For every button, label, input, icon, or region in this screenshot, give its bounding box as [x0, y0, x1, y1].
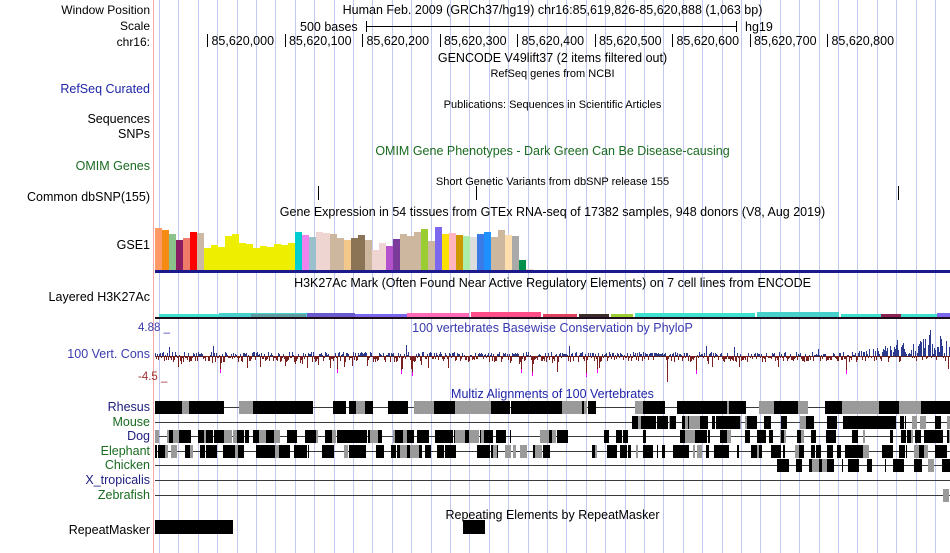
conservation-bar-negative	[714, 356, 715, 358]
multiz-alignment-block	[505, 445, 511, 458]
multiz-alignment-block	[491, 430, 493, 443]
conservation-bar-negative	[183, 356, 184, 362]
dbsnp-variant[interactable]	[476, 186, 477, 200]
conservation-bar-negative	[428, 356, 429, 368]
h3k27ac-cell-line-signal	[251, 314, 306, 317]
conservation-bar-negative	[889, 356, 890, 358]
gtex-tissue-bar[interactable]	[400, 234, 407, 270]
conservation-bar-negative	[771, 356, 772, 359]
multiz-alignment-block	[291, 430, 297, 443]
multiz-alignment-block	[224, 430, 232, 443]
multiz-alignment-block	[483, 445, 491, 458]
conservation-bar-negative	[403, 356, 404, 358]
conservation-bar-negative	[187, 356, 188, 360]
gtex-tissue-bar[interactable]	[267, 247, 274, 270]
scale-bases-text: 500 bases	[300, 20, 358, 34]
multiz-alignment-block	[411, 430, 414, 443]
multiz-alignment-block	[189, 401, 209, 414]
conservation-bar-negative	[288, 356, 289, 360]
bottom-tick	[605, 540, 606, 553]
gtex-tissue-bar[interactable]	[372, 250, 379, 270]
gtex-tissue-bar[interactable]	[281, 245, 288, 270]
track-label-omim-genes[interactable]: OMIM Genes	[0, 159, 150, 173]
conservation-bar-negative	[851, 356, 852, 360]
multiz-alignment-block	[328, 445, 334, 458]
multiz-alignment-block	[239, 401, 253, 414]
gtex-tissue-bar[interactable]	[337, 238, 344, 270]
gtex-tissue-bar[interactable]	[323, 233, 330, 270]
multiz-alignment-block	[685, 430, 692, 443]
conservation-bar-negative	[808, 356, 809, 361]
gtex-tissue-bar[interactable]	[498, 230, 505, 270]
gtex-tissue-bar[interactable]	[190, 232, 197, 270]
conservation-bar-negative	[502, 356, 503, 359]
gtex-tissue-bar[interactable]	[435, 227, 442, 270]
conservation-bar-negative	[232, 356, 233, 359]
h3k27ac-cell-line-signal	[307, 313, 355, 317]
multiz-alignment-block	[253, 401, 273, 414]
conservation-bar-negative	[537, 356, 538, 360]
bottom-tick	[838, 540, 839, 553]
center-title-sequences: Publications: Sequences in Scientific Ar…	[155, 99, 950, 111]
conservation-bar-negative	[733, 356, 734, 361]
conservation-bar-negative	[307, 356, 308, 368]
conservation-bar-negative	[174, 356, 175, 360]
bottom-tick	[857, 540, 858, 553]
gtex-tissue-bar[interactable]	[512, 236, 519, 270]
conservation-bar-negative	[158, 356, 159, 360]
multiz-alignment-block	[190, 445, 193, 458]
multiz-alignment-block	[395, 430, 403, 443]
scale-label: Scale	[0, 20, 150, 33]
conservation-bar-negative	[242, 356, 243, 362]
gtex-tissue-bar[interactable]	[491, 237, 498, 270]
multiz-species-label-chicken[interactable]: Chicken	[0, 458, 150, 472]
conservation-bar-negative	[212, 356, 213, 363]
multiz-alignment-block	[242, 445, 243, 458]
multiz-alignment-block	[588, 401, 596, 414]
multiz-alignment-block	[863, 445, 869, 458]
multiz-alignment-block	[708, 430, 711, 443]
conservation-bar-negative	[931, 356, 932, 358]
multiz-alignment-block	[864, 401, 879, 414]
multiz-alignment-block	[706, 445, 709, 458]
conservation-bar-positive	[942, 346, 943, 356]
conservation-bar-negative	[603, 356, 604, 358]
multiz-alignment-block	[648, 445, 653, 458]
conservation-bar-negative	[448, 356, 449, 368]
gtex-tissue-bar[interactable]	[456, 235, 463, 270]
conservation-bar-negative	[161, 356, 162, 358]
conservation-bar-negative	[907, 356, 908, 357]
conservation-bar-negative	[750, 356, 751, 358]
dbsnp-variant[interactable]	[318, 186, 319, 200]
dbsnp-variant[interactable]	[898, 186, 899, 200]
gtex-tissue-bar[interactable]	[505, 235, 512, 270]
gtex-tissue-bar[interactable]	[344, 240, 351, 270]
gtex-tissue-bar[interactable]	[351, 238, 358, 270]
multiz-alignment-block	[700, 445, 702, 458]
multiz-alignment-block	[941, 445, 948, 458]
track-label-layered-h3k27ac[interactable]: Layered H3K27Ac	[0, 290, 150, 304]
multiz-alignment-block	[696, 401, 711, 414]
phylop-conservation-track[interactable]	[155, 330, 950, 382]
conservation-bar-negative	[178, 356, 179, 367]
scale-bar	[366, 26, 737, 27]
multiz-alignment-block	[689, 401, 696, 414]
conservation-bar-negative	[522, 356, 523, 359]
multiz-alignment-block	[228, 445, 235, 458]
multiz-alignment-block	[484, 430, 491, 443]
center-title-gencode: GENCODE V49lift37 (2 items filtered out)	[155, 52, 950, 64]
conservation-bar-clipped	[412, 372, 413, 376]
conservation-bar-negative	[874, 356, 875, 361]
multiz-species-row[interactable]	[155, 416, 950, 429]
h3k27ac-cell-line-signal	[757, 312, 839, 317]
multiz-alignment-block	[612, 445, 617, 458]
gtex-tissue-bar[interactable]	[449, 233, 456, 270]
bottom-tick	[275, 540, 276, 553]
multiz-species-row[interactable]	[155, 489, 950, 502]
multiz-alignment-block	[262, 445, 270, 458]
multiz-alignment-block	[879, 401, 899, 414]
gtex-tissue-bar[interactable]	[162, 230, 169, 270]
gtex-tissue-bar[interactable]	[197, 233, 204, 270]
gtex-tissue-bar[interactable]	[463, 236, 470, 270]
multiz-species-label-x_tropicalis[interactable]: X_tropicalis	[0, 473, 150, 487]
bottom-tick	[237, 540, 238, 553]
conservation-bar-negative	[435, 356, 436, 359]
ruler-tick-label: 85,620,500	[596, 34, 662, 48]
gtex-tissue-bar[interactable]	[477, 234, 484, 270]
conservation-bar-negative	[417, 356, 418, 358]
conservation-bar-negative	[574, 356, 575, 357]
gtex-tissue-bar[interactable]	[295, 232, 302, 270]
multiz-species-label-zebrafish[interactable]: Zebrafish	[0, 488, 150, 502]
multiz-alignment-block	[920, 430, 921, 443]
multiz-alignment-block	[830, 430, 836, 443]
conservation-bar-negative	[529, 356, 530, 357]
conservation-bar-negative	[696, 356, 697, 371]
gtex-tissue-bar[interactable]	[218, 247, 225, 270]
bottom-tick	[916, 540, 917, 553]
conservation-bar-negative	[337, 356, 338, 370]
multiz-alignment-block	[604, 430, 609, 443]
gtex-tissue-bar[interactable]	[470, 237, 477, 270]
multiz-alignment-block	[285, 445, 290, 458]
multiz-alignment-block	[818, 445, 821, 458]
conservation-bar-negative	[881, 356, 882, 361]
multiz-alignment-block	[635, 401, 644, 414]
gtex-tissue-bar[interactable]	[316, 232, 323, 270]
multiz-alignment-block	[825, 401, 843, 414]
multiz-species-label-elephant[interactable]: Elephant	[0, 444, 150, 458]
conservation-bar-negative	[703, 356, 704, 358]
multiz-alignment-block	[693, 445, 695, 458]
gtex-expression-chart[interactable]	[155, 221, 950, 273]
conservation-bar-negative	[483, 356, 484, 359]
bottom-tick	[760, 540, 761, 553]
h3k27ac-cell-line-signal	[579, 314, 609, 317]
bottom-tick	[198, 540, 199, 553]
conservation-bar-clipped	[846, 370, 847, 374]
bottom-tick	[935, 540, 936, 553]
multiz-alignment-block	[935, 416, 941, 429]
conservation-bar-negative	[209, 356, 210, 361]
conservation-bar-negative	[846, 356, 847, 370]
conservation-bar-negative	[444, 356, 445, 359]
gtex-tissue-bar[interactable]	[484, 232, 491, 270]
bottom-tick	[586, 540, 587, 553]
conservation-bar-negative	[945, 356, 946, 361]
h3k27ac-cell-line-signal	[937, 313, 950, 317]
multiz-species-label-mouse[interactable]: Mouse	[0, 415, 150, 429]
track-label-repeatmasker[interactable]: RepeatMasker	[0, 523, 150, 537]
multiz-species-row[interactable]	[155, 474, 950, 487]
conservation-bar-negative	[756, 356, 757, 359]
bottom-tick	[625, 540, 626, 553]
conservation-bar-negative	[385, 356, 386, 362]
multiz-alignment-block	[308, 445, 310, 458]
conservation-bar-negative	[255, 356, 256, 360]
conservation-bar-negative	[463, 356, 464, 357]
multiz-alignment-block	[763, 430, 766, 443]
conservation-bar-negative	[760, 356, 761, 358]
conservation-bar-negative	[626, 356, 627, 358]
h3k27ac-cell-line-signal	[355, 314, 407, 317]
gtex-tissue-bar[interactable]	[260, 246, 267, 270]
conservation-bar-negative	[747, 356, 748, 362]
gtex-tissue-bar[interactable]	[365, 240, 372, 270]
conservation-bar-clipped	[532, 372, 533, 376]
conservation-bar-negative	[239, 356, 240, 358]
ruler-tick: 85,620,200	[362, 34, 429, 48]
gtex-tissue-bar[interactable]	[274, 244, 281, 270]
multiz-alignment-block	[685, 445, 689, 458]
multiz-alignment-block	[355, 445, 363, 458]
bottom-tick	[722, 540, 723, 553]
multiz-alignment-block	[711, 401, 727, 414]
multiz-alignment-block	[457, 430, 465, 443]
conservation-bar-negative	[218, 356, 219, 358]
gtex-tissue-bar[interactable]	[225, 236, 232, 270]
conservation-bar-negative	[619, 356, 620, 358]
multiz-alignment-block	[721, 416, 728, 429]
multiz-alignment-block	[853, 459, 859, 472]
multiz-alignment-block	[752, 416, 757, 429]
gtex-tissue-bar[interactable]	[414, 232, 421, 270]
chromosome-label: chr16:	[0, 36, 150, 49]
conservation-bar-positive	[569, 346, 570, 356]
conservation-bar-negative	[753, 356, 754, 357]
h3k27ac-signal-track[interactable]	[155, 303, 950, 321]
multiz-alignment-block	[316, 430, 318, 443]
conservation-bar-negative	[678, 356, 679, 360]
multiz-alignment-block	[532, 401, 540, 414]
multiz-alignment-block	[171, 445, 177, 458]
gtex-tissue-bar[interactable]	[442, 234, 449, 270]
track-label-refseq-curated[interactable]: RefSeq Curated	[0, 82, 150, 96]
conservation-bar-negative	[156, 356, 157, 359]
conservation-bar-negative	[594, 356, 595, 361]
conservation-bar-negative	[632, 356, 633, 358]
conservation-bar-positive	[706, 346, 707, 356]
multiz-species-row[interactable]	[155, 445, 950, 458]
multiz-alignment-block	[435, 430, 442, 443]
bottom-tick	[702, 540, 703, 553]
gtex-tissue-bar[interactable]	[211, 245, 218, 270]
conservation-bar-negative	[195, 356, 196, 361]
track-label-sequences[interactable]: Sequences	[0, 112, 150, 126]
multiz-alignment-block	[657, 445, 659, 458]
gtex-tissue-bar[interactable]	[155, 228, 162, 270]
multiz-species-row[interactable]	[155, 430, 950, 443]
conservation-bar-negative	[795, 356, 796, 358]
coordinate-ruler[interactable]: 85,620,000 85,620,100 85,620,200 85,620,…	[155, 34, 950, 50]
multiz-alignment-block	[437, 445, 444, 458]
gtex-tissue-bar[interactable]	[169, 234, 176, 270]
multiz-alignment-block	[912, 416, 918, 429]
conservation-bar-positive	[887, 348, 888, 357]
gtex-tissue-bar[interactable]	[386, 246, 393, 270]
multiz-alignment-block	[716, 445, 723, 458]
multiz-alignment-block	[511, 401, 532, 414]
gtex-tissue-bar[interactable]	[358, 235, 365, 270]
multiz-alignment-block	[543, 445, 550, 458]
conservation-bar-negative	[892, 356, 893, 357]
gtex-tissue-bar[interactable]	[519, 260, 526, 270]
conservation-bar-negative	[558, 356, 559, 362]
conservation-bar-negative	[671, 356, 672, 361]
multiz-species-label-dog[interactable]: Dog	[0, 429, 150, 443]
conservation-bar-negative	[719, 356, 720, 357]
conservation-bar-negative	[584, 356, 585, 361]
conservation-bar-negative	[297, 356, 298, 359]
gtex-tissue-bar[interactable]	[232, 234, 239, 270]
conservation-bar-negative	[352, 356, 353, 366]
conservation-bar-negative	[378, 356, 379, 360]
multiz-alignment-block	[513, 445, 517, 458]
multiz-alignment-block	[740, 416, 741, 429]
conservation-bar-negative	[291, 356, 292, 358]
bottom-tick	[528, 540, 529, 553]
multiz-alignment-block	[812, 459, 819, 472]
track-label-common-dbsnp[interactable]: Common dbSNP(155)	[0, 190, 150, 204]
track-label-gse1[interactable]: GSE1	[0, 238, 150, 252]
conservation-bar-negative	[166, 356, 167, 360]
multiz-species-row[interactable]	[155, 459, 950, 472]
multiz-alignment-block	[911, 430, 913, 443]
conservation-bar-negative	[591, 356, 592, 358]
multiz-alignment-block	[273, 401, 283, 414]
conservation-bar-negative	[789, 356, 790, 358]
conservation-bar-negative	[811, 356, 812, 357]
repeat-element-block[interactable]	[155, 520, 233, 534]
h3k27ac-cell-line-signal	[471, 312, 541, 317]
h3k27ac-cell-line-signal	[611, 314, 633, 317]
genome-browser[interactable]: Window Position Scale chr16: Human Feb. …	[0, 0, 950, 553]
ruler-tick: 85,620,500	[595, 34, 662, 48]
gtex-tissue-bar[interactable]	[428, 241, 435, 270]
bottom-tick	[392, 540, 393, 553]
multiz-alignment-block	[283, 401, 302, 414]
center-title-omim: OMIM Gene Phenotypes - Dark Green Can Be…	[155, 145, 950, 157]
window-position-label: Window Position	[0, 4, 150, 17]
multiz-alignment-block	[442, 430, 450, 443]
multiz-alignment-block	[738, 401, 746, 414]
bottom-tick	[896, 540, 897, 553]
gtex-tissue-bar[interactable]	[239, 243, 246, 270]
ruler-tick: 85,620,100	[285, 34, 352, 48]
multiz-alignment-block	[882, 445, 889, 458]
conservation-bar-negative	[589, 356, 590, 357]
multiz-species-label-rhesus[interactable]: Rhesus	[0, 400, 150, 414]
gtex-tissue-bar[interactable]	[183, 238, 190, 270]
multiz-alignment-block	[302, 401, 313, 414]
multiz-alignment-block	[701, 416, 708, 429]
multiz-species-row[interactable]	[155, 401, 950, 414]
multiz-alignment-block	[595, 445, 597, 458]
conservation-bar-negative	[433, 356, 434, 359]
bottom-tick	[295, 540, 296, 553]
conservation-bar-negative	[269, 356, 270, 361]
ruler-tick: 85,620,400	[517, 34, 584, 48]
ruler-tick-label: 85,620,000	[208, 34, 274, 48]
gtex-tissue-bar[interactable]	[379, 243, 386, 270]
conservation-bar-clipped	[337, 369, 338, 373]
conservation-bar-negative	[224, 356, 225, 362]
multiz-alignment-track[interactable]	[155, 401, 950, 507]
gtex-tissue-bar[interactable]	[253, 248, 260, 270]
gtex-tissue-bar[interactable]	[309, 237, 316, 270]
multiz-alignment-block	[434, 401, 440, 414]
conservation-bar-negative	[369, 356, 370, 358]
conservation-bar-negative	[561, 356, 562, 358]
track-label-100-vert-cons[interactable]: 100 Vert. Cons	[0, 347, 150, 361]
multiz-alignment-block	[889, 416, 896, 429]
gtex-tissue-bar[interactable]	[407, 236, 414, 270]
conservation-bar-positive	[873, 349, 874, 356]
bottom-tick	[683, 540, 684, 553]
conservation-bar-positive	[869, 349, 870, 356]
repeat-element-block[interactable]	[463, 520, 485, 534]
bottom-tick	[819, 540, 820, 553]
multiz-alignment-block	[720, 430, 727, 443]
track-label-snps[interactable]: SNPs	[0, 127, 150, 141]
gtex-tissue-bar[interactable]	[176, 240, 183, 270]
conservation-bar-negative	[668, 356, 669, 359]
gtex-tissue-bar[interactable]	[204, 248, 211, 270]
multiz-alignment-block	[440, 401, 455, 414]
multiz-alignment-block	[759, 445, 762, 458]
gtex-tissue-bar[interactable]	[288, 243, 295, 270]
gtex-tissue-bar[interactable]	[421, 229, 428, 270]
conservation-bar-negative	[623, 356, 624, 360]
multiz-alignment-block	[419, 445, 423, 458]
bottom-tick	[314, 540, 315, 553]
multiz-alignment-block	[412, 445, 419, 458]
gtex-tissue-bar[interactable]	[330, 234, 337, 270]
gtex-tissue-bar[interactable]	[393, 239, 400, 270]
conservation-bar-negative	[927, 356, 928, 358]
multiz-alignment-block	[662, 445, 666, 458]
repeatmasker-track[interactable]	[155, 520, 950, 536]
dbsnp-variants-track[interactable]	[155, 186, 950, 200]
gtex-tissue-bar[interactable]	[246, 244, 253, 270]
gtex-tissue-bar[interactable]	[302, 235, 309, 270]
conservation-bar-negative	[914, 356, 915, 358]
conservation-bar-negative	[832, 356, 833, 357]
